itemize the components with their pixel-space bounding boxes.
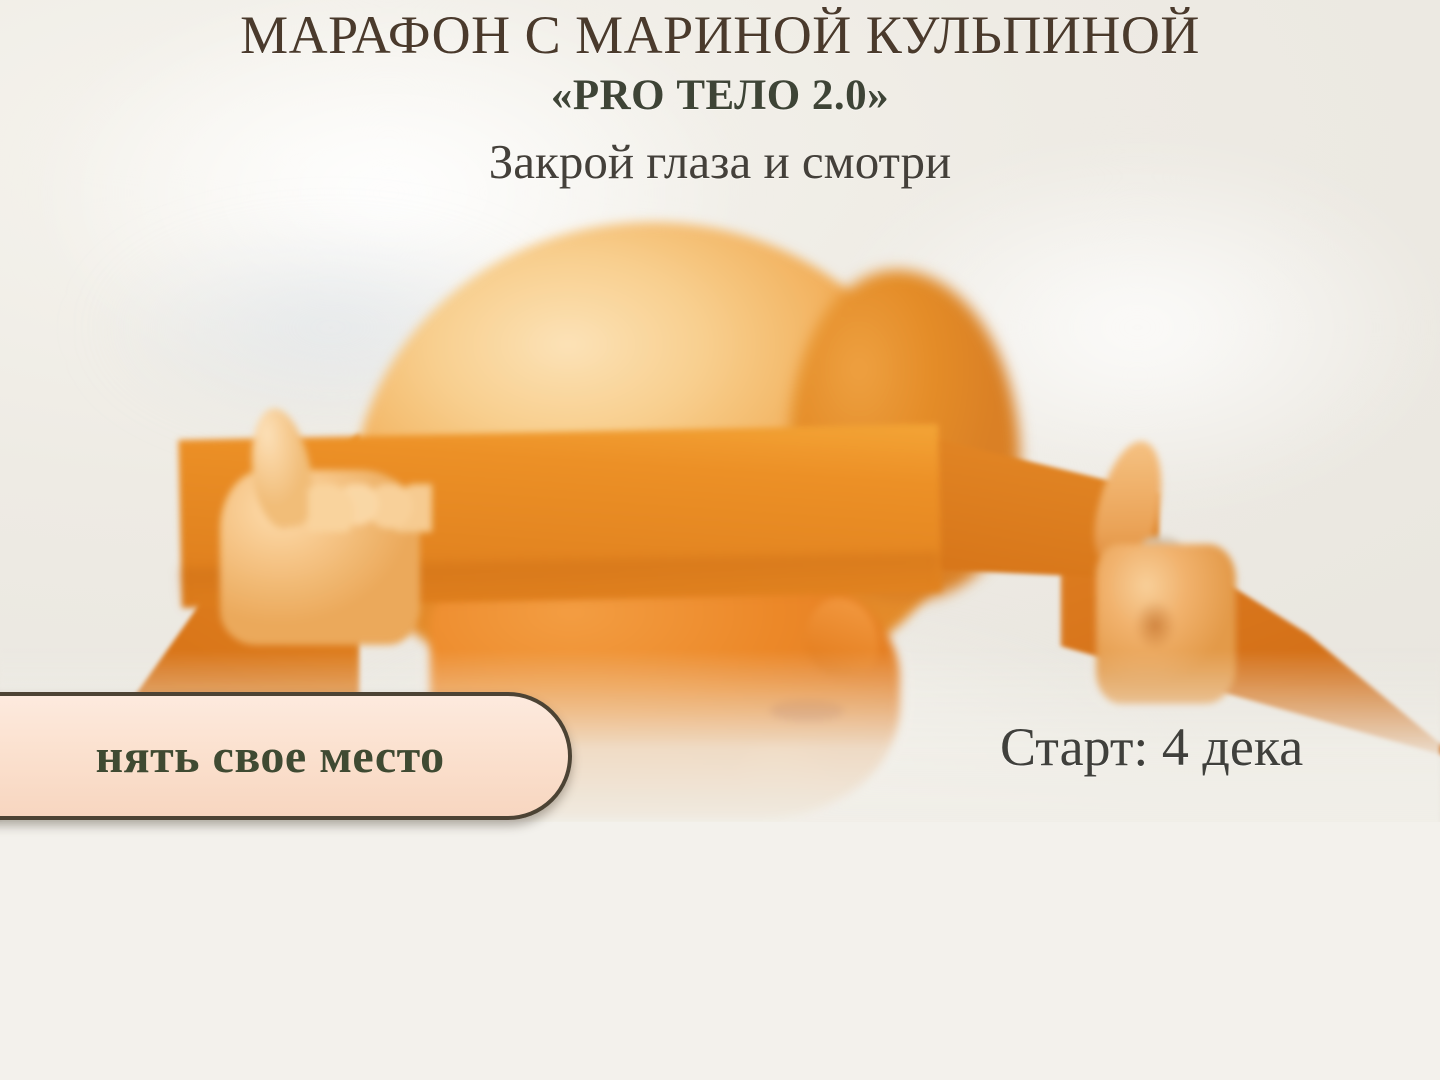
page-background-area [0,822,1440,1080]
hand-left-icon [200,400,430,650]
start-date-text: Старт: 4 дека [1000,716,1303,778]
promo-banner: МАРАФОН С МАРИНОЙ КУЛЬПИНОЙ «PRO ТЕЛО 2.… [0,0,1440,840]
hand-left-knuckles [308,484,432,532]
headline-block: МАРАФОН С МАРИНОЙ КУЛЬПИНОЙ «PRO ТЕЛО 2.… [0,0,1440,186]
promo-banner-page: МАРАФОН С МАРИНОЙ КУЛЬПИНОЙ «PRO ТЕЛО 2.… [0,0,1440,1080]
page-title: МАРАФОН С МАРИНОЙ КУЛЬПИНОЙ [0,8,1440,62]
reserve-seat-button[interactable]: нять свое место [0,692,572,820]
reserve-seat-button-label: нять свое место [0,729,445,784]
tagline: Закрой глаза и смотри [0,137,1440,186]
program-name: «PRO ТЕЛО 2.0» [0,74,1440,117]
